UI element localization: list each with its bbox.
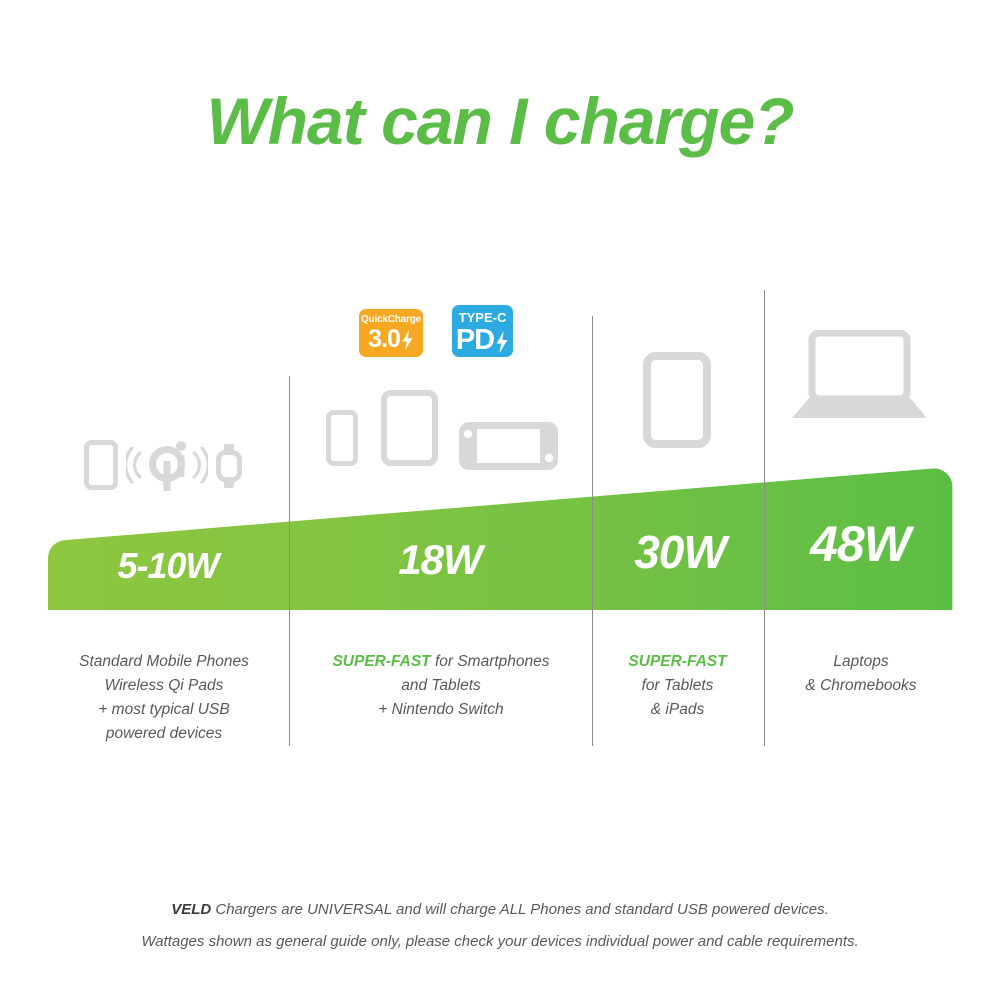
column-caption-2: SUPER-FAST for Smartphones and Tablets +… (300, 650, 582, 722)
caption-line: for Tablets (600, 674, 755, 698)
infographic-page: What can I charge? QuickCharge 3.0 TYPE-… (0, 0, 1000, 1000)
caption-highlight: SUPER-FAST (628, 653, 726, 670)
caption-text: for Tablets (642, 677, 714, 694)
column-divider (764, 290, 765, 746)
caption-line: SUPER-FAST (600, 650, 755, 674)
caption-text: & Chromebooks (805, 677, 916, 694)
caption-line: powered devices (48, 722, 280, 746)
column-divider (592, 316, 593, 746)
column-divider (289, 376, 290, 746)
type-c-pd-badge-top-label: TYPE-C (452, 305, 513, 325)
tablet-icon (643, 352, 711, 453)
type-c-pd-badge-value: PD (456, 325, 494, 355)
column-caption-3: SUPER-FAST for Tablets & iPads (600, 650, 755, 722)
footer-text: Chargers are UNIVERSAL and will charge A… (211, 901, 829, 918)
caption-line: & Chromebooks (772, 674, 950, 698)
caption-text: Laptops (833, 653, 888, 670)
caption-line: and Tablets (300, 674, 582, 698)
lightning-bolt-icon (495, 329, 509, 351)
caption-text: powered devices (106, 725, 222, 742)
page-title: What can I charge? (0, 82, 1000, 160)
caption-text: for Smartphones (431, 653, 550, 670)
caption-text: Wireless Qi Pads (105, 677, 224, 694)
column-caption-1: Standard Mobile Phones Wireless Qi Pads … (48, 650, 280, 746)
quickcharge-badge: QuickCharge 3.0 (359, 309, 423, 357)
caption-line: + Nintendo Switch (300, 698, 582, 722)
caption-text: & iPads (651, 701, 704, 718)
type-c-pd-badge: TYPE-C PD (452, 305, 513, 357)
caption-line: + most typical USB (48, 698, 280, 722)
column-caption-4: Laptops & Chromebooks (772, 650, 950, 698)
caption-line: SUPER-FAST for Smartphones (300, 650, 582, 674)
lightning-bolt-icon (401, 329, 414, 349)
caption-text: and Tablets (401, 677, 481, 694)
caption-line: Wireless Qi Pads (48, 674, 280, 698)
caption-line: Standard Mobile Phones (48, 650, 280, 674)
quickcharge-badge-top-label: QuickCharge (359, 309, 423, 326)
type-c-pd-badge-main: PD (452, 325, 513, 355)
caption-text: + Nintendo Switch (378, 701, 503, 718)
brand-name: VELD (171, 901, 211, 918)
caption-text: + most typical USB (98, 701, 229, 718)
footer-line-1: VELD Chargers are UNIVERSAL and will cha… (0, 899, 1000, 921)
caption-line: Laptops (772, 650, 950, 674)
wattage-label-30w: 30W (600, 525, 760, 579)
caption-highlight: SUPER-FAST (332, 653, 430, 670)
quickcharge-badge-value: 3.0 (368, 326, 400, 352)
quickcharge-badge-main: 3.0 (359, 326, 423, 352)
wattage-label-18w: 18W (300, 535, 580, 585)
caption-line: & iPads (600, 698, 755, 722)
wattage-label-5-10w: 5-10W (58, 545, 278, 587)
wattage-label-48w: 48W (775, 515, 945, 573)
caption-text: Standard Mobile Phones (79, 653, 249, 670)
laptop-icon (791, 330, 928, 426)
footer-line-2: Wattages shown as general guide only, pl… (0, 931, 1000, 953)
